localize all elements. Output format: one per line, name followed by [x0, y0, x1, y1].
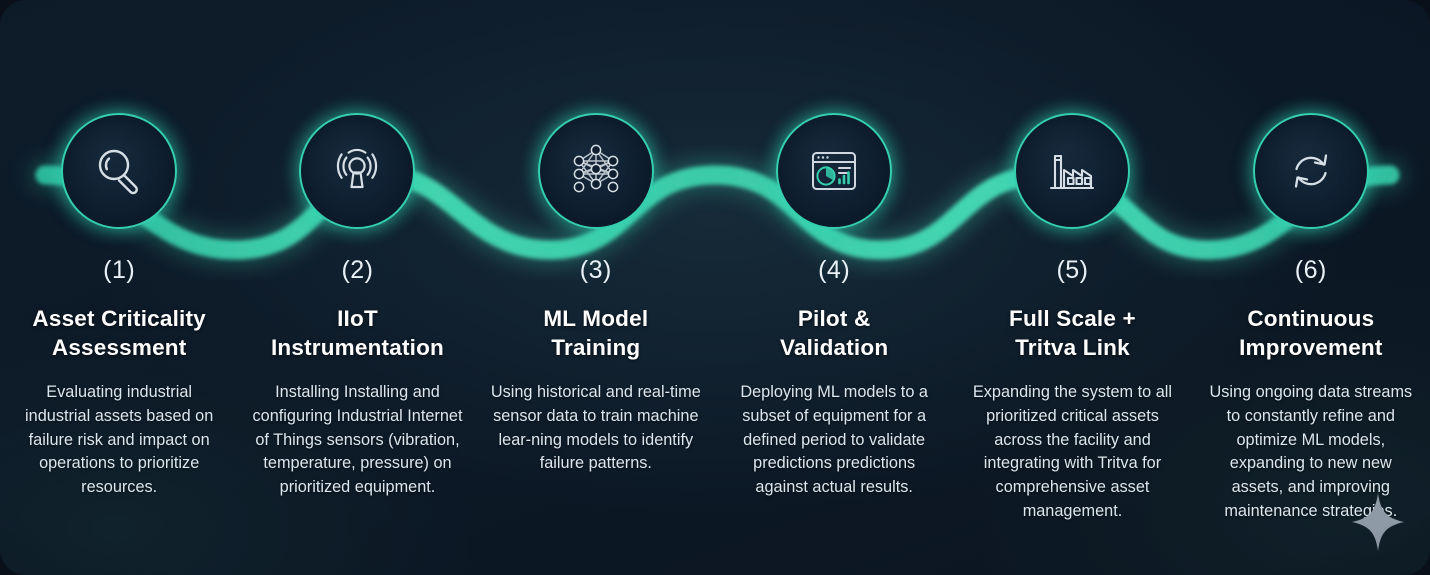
step-2-icon-circle — [299, 113, 415, 229]
step-3-number: (3) — [477, 256, 715, 285]
steps-row: (1) Asset CriticalityAssessment Evaluati… — [0, 0, 1430, 575]
refresh-cycle-icon — [1282, 142, 1340, 200]
magnifier-icon — [89, 141, 149, 201]
step-6-icon-circle — [1253, 113, 1369, 229]
infographic-canvas: (1) Asset CriticalityAssessment Evaluati… — [0, 0, 1430, 575]
step-4-description: Deploying ML models to a subset of equip… — [715, 381, 953, 500]
step-3: (3) ML ModelTraining Using historical an… — [477, 0, 715, 575]
step-4-number: (4) — [715, 256, 953, 285]
step-4-icon-circle — [776, 113, 892, 229]
step-1-title: Asset CriticalityAssessment — [0, 305, 238, 363]
step-4-title: Pilot &Validation — [715, 305, 953, 363]
step-5-title: Full Scale +Tritva Link — [953, 305, 1191, 363]
circle-ring — [1014, 113, 1130, 229]
step-6-title: ContinuousImprovement — [1192, 305, 1430, 363]
four-point-sparkle-icon — [1350, 491, 1406, 553]
factory-icon — [1043, 142, 1101, 200]
step-3-icon-circle — [538, 113, 654, 229]
dashboard-chart-icon — [805, 142, 863, 200]
step-5-number: (5) — [953, 256, 1191, 285]
step-3-description: Using historical and real-time sensor da… — [477, 381, 715, 476]
step-2-number: (2) — [238, 256, 476, 285]
circle-ring — [1253, 113, 1369, 229]
step-3-title: ML ModelTraining — [477, 305, 715, 363]
step-2-description: Installing Installing and configuring In… — [238, 381, 476, 500]
step-1-description: Evaluating industrial industrial assets … — [0, 381, 238, 500]
step-1: (1) Asset CriticalityAssessment Evaluati… — [0, 0, 238, 575]
step-1-number: (1) — [0, 256, 238, 285]
sensor-antenna-icon — [328, 142, 386, 200]
step-2: (2) IIoTInstrumentation Installing Insta… — [238, 0, 476, 575]
step-6: (6) ContinuousImprovement Using ongoing … — [1192, 0, 1430, 575]
step-6-number: (6) — [1192, 256, 1430, 285]
step-2-title: IIoTInstrumentation — [238, 305, 476, 363]
circle-ring — [299, 113, 415, 229]
circle-ring — [61, 113, 177, 229]
step-5-description: Expanding the system to all prioritized … — [953, 381, 1191, 524]
step-1-icon-circle — [61, 113, 177, 229]
step-4: (4) Pilot &Validation Deploying ML model… — [715, 0, 953, 575]
neural-network-icon — [566, 141, 626, 201]
circle-ring — [538, 113, 654, 229]
step-5: (5) Full Scale +Tritva Link Expanding th… — [953, 0, 1191, 575]
circle-ring — [776, 113, 892, 229]
step-5-icon-circle — [1014, 113, 1130, 229]
